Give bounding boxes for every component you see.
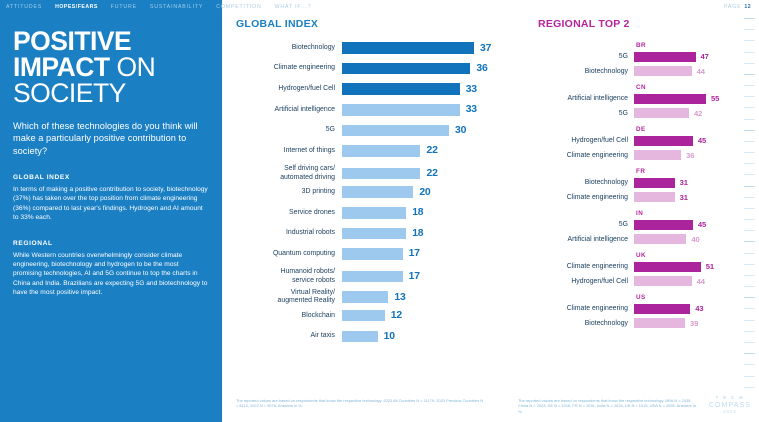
- ruler-tick: [744, 286, 755, 287]
- global-bar-row: Industrial robots18: [236, 227, 498, 239]
- global-bar-value: 37: [480, 43, 491, 54]
- global-bar-value: 17: [409, 271, 420, 282]
- regional-bar-row: Climate engineering36: [512, 150, 734, 161]
- regional-group-de: DEHydrogen/fuel Cell45Climate engineerin…: [512, 126, 734, 161]
- regional-bar-track: 40: [634, 234, 734, 244]
- regional-bar-fill: [634, 94, 706, 104]
- global-bar-track: 30: [342, 125, 498, 137]
- global-bar-row: 3D printing20: [236, 186, 498, 198]
- global-bar-label: 3D printing: [236, 188, 342, 196]
- nav-item-what-if[interactable]: WHAT IF...?: [275, 4, 312, 10]
- ruler-tick: [744, 152, 755, 153]
- regional-bar-track: 51: [634, 262, 734, 272]
- regional-bar-row: Artificial intelligence40: [512, 234, 734, 245]
- regional-bar-value: 40: [691, 235, 699, 244]
- regional-bar-track: 44: [634, 276, 734, 286]
- global-bar-row: Self driving cars/automated driving22: [236, 166, 498, 182]
- nav-item-hopes-fears[interactable]: HOPES/FEARS: [55, 4, 98, 10]
- ruler-tick: [744, 18, 755, 19]
- regional-bar-label: 5G: [512, 53, 634, 60]
- regional-bar-label: Artificial intelligence: [512, 236, 634, 243]
- global-bar-row: Virtual Reality/augmented Reality13: [236, 289, 498, 305]
- global-bar-label: 5G: [236, 126, 342, 134]
- regional-bar-fill: [634, 150, 681, 160]
- global-bar-track: 20: [342, 186, 498, 198]
- global-bar-value: 30: [455, 125, 466, 136]
- regional-group-cn: CNArtificial intelligence555G42: [512, 84, 734, 119]
- regional-bar-row: Climate engineering51: [512, 262, 734, 273]
- regional-bar-track: 44: [634, 66, 734, 76]
- ruler-tick: [744, 186, 755, 187]
- panel-section-title-regional: REGIONAL: [13, 240, 209, 247]
- ruler-tick: [744, 29, 755, 30]
- ruler-tick: [744, 52, 755, 53]
- survey-question: Which of these technologies do you think…: [13, 120, 209, 157]
- global-bar-fill: [342, 104, 460, 116]
- regional-bar-fill: [634, 276, 692, 286]
- global-bar-row: 5G30: [236, 124, 498, 136]
- regional-bar-fill: [634, 178, 675, 188]
- regional-bar-value: 44: [697, 277, 705, 286]
- page-number: 12: [744, 4, 751, 10]
- global-bar-label: Hydrogen/fuel Cell: [236, 85, 342, 93]
- logo-year-text: 2023: [709, 410, 751, 414]
- nav-item-sustainability[interactable]: SUSTAINABILITY: [150, 4, 203, 10]
- regional-bar-row: Hydrogen/fuel Cell44: [512, 276, 734, 287]
- regional-bar-row: Artificial intelligence55: [512, 94, 734, 105]
- global-bar-track: 18: [342, 228, 498, 240]
- regional-bar-track: 55: [634, 94, 734, 104]
- ruler-tick: [744, 241, 755, 242]
- global-footnote: The reported values are based on respond…: [236, 398, 486, 409]
- global-bar-track: 37: [342, 42, 498, 54]
- global-bar-row: Humanoid robots/service robots17: [236, 269, 498, 285]
- regional-bar-value: 45: [698, 220, 706, 229]
- ruler-tick: [744, 197, 755, 198]
- global-bar-value: 13: [394, 292, 405, 303]
- global-index-heading: GLOBAL INDEX: [236, 18, 498, 30]
- global-bar-value: 33: [466, 104, 477, 115]
- ruler-tick: [744, 96, 755, 97]
- regional-group-in: IN5G45Artificial intelligence40: [512, 210, 734, 245]
- global-bar-value: 18: [412, 207, 423, 218]
- page-title: POSITIVE IMPACT ON SOCIETY: [13, 28, 209, 106]
- global-bar-track: 18: [342, 207, 498, 219]
- global-bar-value: 17: [409, 248, 420, 259]
- global-bar-row: Hydrogen/fuel Cell33: [236, 83, 498, 95]
- regional-group-br: BR5G47Biotechnology44: [512, 42, 734, 77]
- global-bar-track: 36: [342, 63, 498, 75]
- global-bar-fill: [342, 168, 420, 180]
- regional-country-code: FR: [636, 168, 734, 175]
- ruler-tick: [744, 331, 755, 332]
- regional-group-fr: FRBiotechnology31Climate engineering31: [512, 168, 734, 203]
- global-bar-track: 33: [342, 104, 498, 116]
- regional-bar-label: Climate engineering: [512, 305, 634, 312]
- regional-bar-value: 44: [697, 67, 705, 76]
- regional-bar-label: Climate engineering: [512, 194, 634, 201]
- nav-item-attitudes[interactable]: ATTITUDES: [6, 4, 42, 10]
- regional-country-code: CN: [636, 84, 734, 91]
- nav-item-list: ATTITUDESHOPES/FEARSFUTURESUSTAINABILITY…: [0, 0, 311, 14]
- ruler-tick: [744, 63, 755, 64]
- regional-bar-track: 42: [634, 108, 734, 118]
- global-bar-label: Blockchain: [236, 312, 342, 320]
- global-bar-fill: [342, 331, 378, 343]
- global-bar-track: 17: [342, 271, 498, 283]
- regional-bar-track: 45: [634, 136, 734, 146]
- page-label: PAGE: [724, 4, 741, 10]
- ruler-tick: [744, 308, 755, 309]
- ruler-tick: [744, 230, 755, 231]
- ruler-tick: [744, 85, 755, 86]
- report-page: ATTITUDESHOPES/FEARSFUTURESUSTAINABILITY…: [0, 0, 759, 422]
- logo-tech-text: T E C H: [709, 396, 751, 401]
- regional-heading: REGIONAL TOP 2: [512, 18, 734, 30]
- panel-section-body-regional: While Western countries overwhelmingly c…: [13, 251, 209, 298]
- global-bar-fill: [342, 42, 474, 54]
- global-bar-label: Industrial robots: [236, 229, 342, 237]
- regional-bar-fill: [634, 66, 692, 76]
- ruler-tick: [744, 264, 755, 265]
- global-bar-value: 20: [419, 187, 430, 198]
- regional-top2-chart: REGIONAL TOP 2 BR5G47Biotechnology44CNAr…: [512, 18, 734, 336]
- global-bar-track: 22: [342, 168, 498, 180]
- ruler-tick: [744, 40, 755, 41]
- global-bar-fill: [342, 186, 413, 198]
- regional-bar-fill: [634, 318, 685, 328]
- global-bar-label: Artificial intelligence: [236, 106, 342, 114]
- regional-bar-fill: [634, 304, 690, 314]
- ruler-tick: [744, 119, 755, 120]
- ruler-tick: [744, 320, 755, 321]
- global-bar-value: 36: [476, 63, 487, 74]
- regional-bar-value: 39: [690, 319, 698, 328]
- global-bar-label: Biotechnology: [236, 44, 342, 52]
- global-bar-track: 12: [342, 310, 498, 322]
- regional-footnote: The reported values are based on respond…: [518, 398, 698, 414]
- global-bar-track: 13: [342, 291, 498, 303]
- regional-bar-row: Hydrogen/fuel Cell45: [512, 136, 734, 147]
- regional-bar-track: 47: [634, 52, 734, 62]
- global-bar-row: Quantum computing17: [236, 248, 498, 260]
- regional-bar-label: Hydrogen/fuel Cell: [512, 137, 634, 144]
- global-bar-row: Biotechnology37: [236, 42, 498, 54]
- global-bar-row: Blockchain12: [236, 310, 498, 322]
- ruler-tick: [744, 253, 755, 254]
- top-navigation: ATTITUDESHOPES/FEARSFUTURESUSTAINABILITY…: [0, 0, 759, 14]
- regional-group-us: USClimate engineering43Biotechnology39: [512, 294, 734, 329]
- regional-bar-track: 31: [634, 178, 734, 188]
- regional-bar-label: 5G: [512, 221, 634, 228]
- global-bar-value: 33: [466, 84, 477, 95]
- regional-country-code: US: [636, 294, 734, 301]
- global-bar-label: Humanoid robots/service robots: [236, 268, 342, 284]
- ruler-tick: [744, 74, 755, 75]
- regional-group-list: BR5G47Biotechnology44CNArtificial intell…: [512, 42, 734, 329]
- regional-group-uk: UKClimate engineering51Hydrogen/fuel Cel…: [512, 252, 734, 287]
- global-bar-row: Climate engineering36: [236, 63, 498, 75]
- global-bar-label: Quantum computing: [236, 250, 342, 258]
- global-bar-track: 33: [342, 83, 498, 95]
- regional-bar-value: 31: [680, 178, 688, 187]
- page-indicator: PAGE 12: [724, 0, 751, 14]
- ruler-tick: [744, 297, 755, 298]
- global-bar-fill: [342, 291, 388, 303]
- regional-bar-value: 55: [711, 94, 719, 103]
- regional-country-code: DE: [636, 126, 734, 133]
- global-bar-value: 18: [412, 228, 423, 239]
- ruler-tick: [744, 275, 755, 276]
- regional-bar-track: 43: [634, 304, 734, 314]
- regional-bar-value: 43: [695, 304, 703, 313]
- regional-bar-row: Biotechnology31: [512, 178, 734, 189]
- regional-country-code: IN: [636, 210, 734, 217]
- regional-bar-row: Biotechnology44: [512, 66, 734, 77]
- ruler-tick: [744, 130, 755, 131]
- ruler-tick: [744, 141, 755, 142]
- global-bar-fill: [342, 207, 406, 219]
- regional-bar-fill: [634, 262, 701, 272]
- ruler-tick: [744, 353, 755, 354]
- regional-bar-label: Hydrogen/fuel Cell: [512, 278, 634, 285]
- regional-bar-label: Biotechnology: [512, 179, 634, 186]
- ruler-tick: [744, 364, 755, 365]
- regional-bar-fill: [634, 136, 693, 146]
- regional-bar-track: 36: [634, 150, 734, 160]
- regional-bar-value: 45: [698, 136, 706, 145]
- regional-bar-row: Climate engineering31: [512, 192, 734, 203]
- global-bar-fill: [342, 63, 470, 75]
- regional-bar-label: 5G: [512, 110, 634, 117]
- regional-bar-value: 51: [706, 262, 714, 271]
- global-bar-track: 22: [342, 145, 498, 157]
- global-bar-fill: [342, 145, 420, 157]
- regional-bar-track: 31: [634, 192, 734, 202]
- global-bar-track: 10: [342, 331, 498, 343]
- regional-bar-fill: [634, 108, 689, 118]
- global-bar-value: 12: [391, 310, 402, 321]
- global-bar-fill: [342, 228, 406, 240]
- global-bar-fill: [342, 83, 460, 95]
- nav-item-competition[interactable]: COMPETITION: [216, 4, 261, 10]
- global-bar-value: 22: [426, 168, 437, 179]
- regional-bar-fill: [634, 52, 696, 62]
- ruler-tick: [744, 107, 755, 108]
- regional-bar-label: Artificial intelligence: [512, 95, 634, 102]
- global-bar-value: 10: [384, 331, 395, 342]
- ruler-tick: [744, 174, 755, 175]
- regional-country-code: BR: [636, 42, 734, 49]
- regional-bar-row: Biotechnology39: [512, 318, 734, 329]
- global-index-chart: GLOBAL INDEX Biotechnology37Climate engi…: [236, 18, 498, 351]
- global-bar-row: Air taxis10: [236, 330, 498, 342]
- global-bar-row: Internet of things22: [236, 145, 498, 157]
- global-bar-label: Service drones: [236, 209, 342, 217]
- panel-section-title-global: GLOBAL INDEX: [13, 174, 209, 181]
- panel-section-body-global: In terms of making a positive contributi…: [13, 185, 209, 223]
- global-bar-fill: [342, 125, 449, 137]
- intro-panel: POSITIVE IMPACT ON SOCIETY Which of thes…: [0, 14, 222, 422]
- ruler-tick: [744, 208, 755, 209]
- nav-item-future[interactable]: FUTURE: [111, 4, 137, 10]
- regional-bar-fill: [634, 234, 686, 244]
- regional-bar-row: 5G42: [512, 108, 734, 119]
- ruler-tick: [744, 342, 755, 343]
- regional-bar-track: 45: [634, 220, 734, 230]
- regional-bar-label: Biotechnology: [512, 320, 634, 327]
- ruler-tick: [744, 387, 755, 388]
- global-bar-track: 17: [342, 248, 498, 260]
- regional-bar-label: Climate engineering: [512, 152, 634, 159]
- headline-word-society: SOCIETY: [13, 78, 126, 108]
- regional-bar-fill: [634, 192, 675, 202]
- regional-bar-value: 31: [680, 193, 688, 202]
- global-bar-fill: [342, 271, 403, 283]
- regional-bar-row: 5G47: [512, 52, 734, 63]
- global-bar-label: Self driving cars/automated driving: [236, 165, 342, 181]
- global-bar-fill: [342, 310, 385, 322]
- regional-bar-value: 42: [694, 109, 702, 118]
- regional-bar-value: 47: [701, 52, 709, 61]
- regional-country-code: UK: [636, 252, 734, 259]
- ruler-tick: [744, 219, 755, 220]
- ruler-tick: [744, 376, 755, 377]
- regional-bar-label: Biotechnology: [512, 68, 634, 75]
- global-bar-value: 22: [426, 145, 437, 156]
- logo-compass-text: COMPASS: [709, 402, 751, 409]
- ruler-tick: [744, 163, 755, 164]
- global-bar-row: Artificial intelligence33: [236, 104, 498, 116]
- global-bar-row: Service drones18: [236, 207, 498, 219]
- regional-bar-label: Climate engineering: [512, 263, 634, 270]
- global-bar-label: Virtual Reality/augmented Reality: [236, 289, 342, 305]
- regional-bar-fill: [634, 220, 693, 230]
- page-edge-ruler: [744, 18, 755, 388]
- regional-bar-row: 5G45: [512, 220, 734, 231]
- global-bar-label: Internet of things: [236, 147, 342, 155]
- regional-bar-value: 36: [686, 151, 694, 160]
- global-bar-label: Climate engineering: [236, 64, 342, 72]
- regional-bar-row: Climate engineering43: [512, 304, 734, 315]
- global-bar-fill: [342, 248, 403, 260]
- global-bar-list: Biotechnology37Climate engineering36Hydr…: [236, 42, 498, 342]
- tech-compass-logo: T E C H COMPASS 2023: [709, 396, 751, 414]
- global-bar-label: Air taxis: [236, 332, 342, 340]
- regional-bar-track: 39: [634, 318, 734, 328]
